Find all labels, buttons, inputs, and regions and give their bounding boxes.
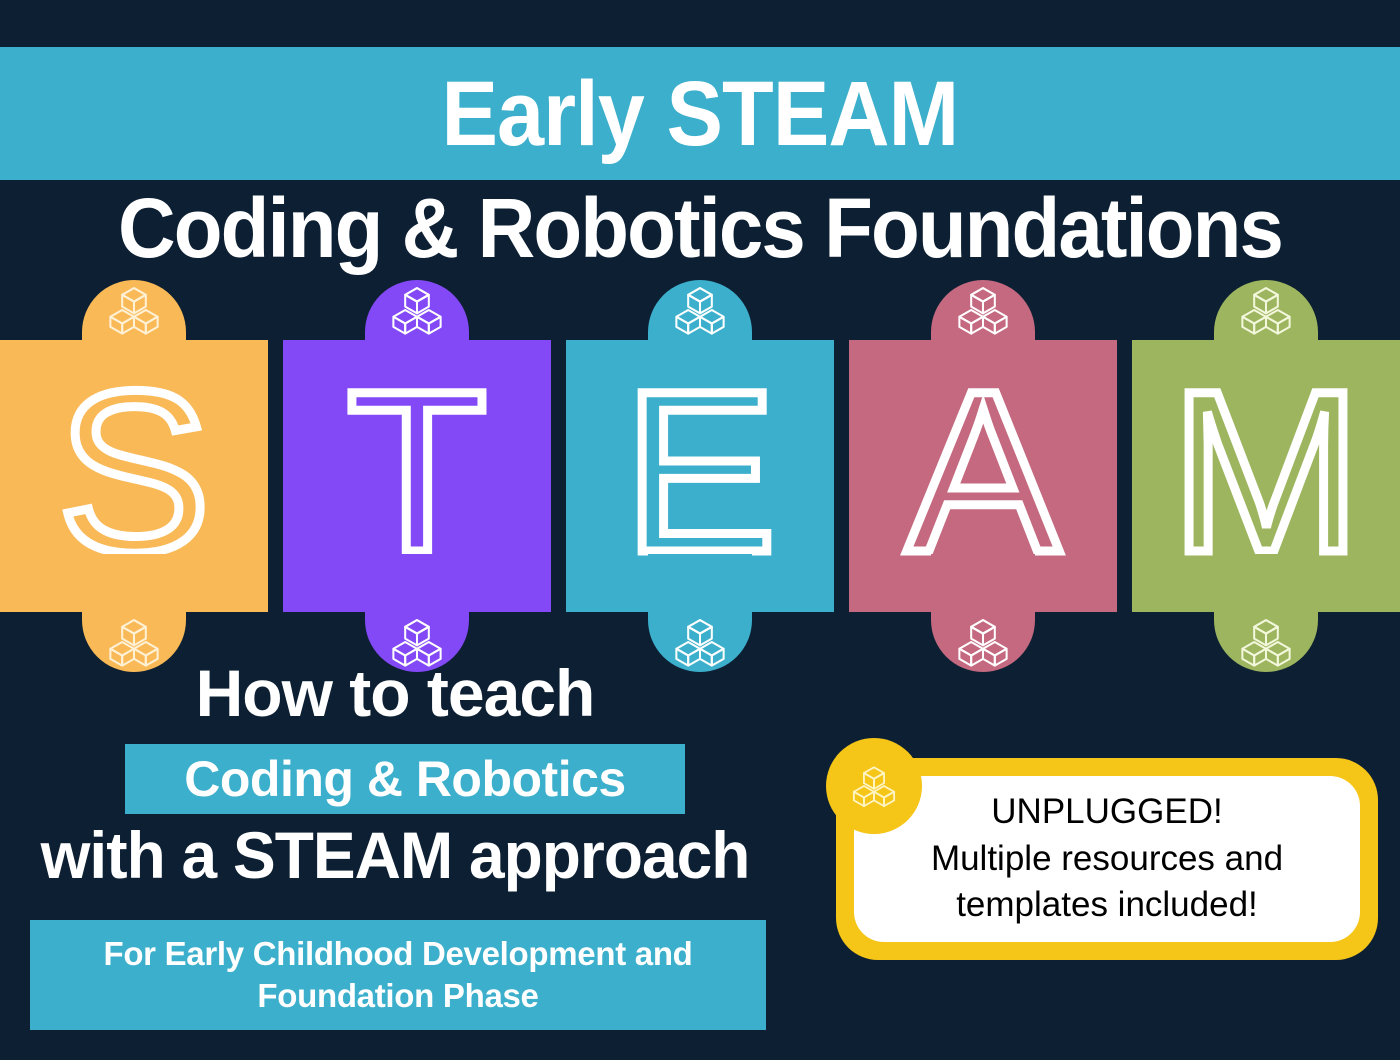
top-banner: Early STEAM xyxy=(0,47,1400,180)
badge-line-3: templates included! xyxy=(956,883,1258,928)
steam-letter: T xyxy=(347,357,488,587)
steam-blocks-row: S T xyxy=(0,280,1400,640)
audience-box: For Early Childhood Development and Foun… xyxy=(30,920,766,1030)
puzzle-tab-bottom xyxy=(648,554,752,672)
page-title: Coding & Robotics Foundations xyxy=(35,186,1365,270)
subtitle-highlight-box: Coding & Robotics xyxy=(125,744,685,814)
subtitle-line-2: with a STEAM approach xyxy=(12,822,778,888)
subtitle-line-1: How to teach xyxy=(0,660,790,726)
subtitle-highlight-text: Coding & Robotics xyxy=(184,754,625,804)
steam-block-arts[interactable]: A xyxy=(849,340,1117,612)
steam-block-science[interactable]: S xyxy=(0,340,268,612)
audience-line-1: For Early Childhood Development and xyxy=(103,935,692,973)
steam-block-engineering[interactable]: E xyxy=(566,340,834,612)
poster-canvas: Early STEAM Coding & Robotics Foundation… xyxy=(0,0,1400,1060)
steam-block-technology[interactable]: T xyxy=(283,340,551,612)
badge-text-panel: UNPLUGGED! Multiple resources and templa… xyxy=(854,776,1360,942)
banner-title: Early STEAM xyxy=(442,68,959,160)
steam-letter: M xyxy=(1170,357,1362,587)
badge-icon-bubble xyxy=(826,738,922,834)
steam-block-mathematics[interactable]: M xyxy=(1132,340,1400,612)
steam-letter: E xyxy=(623,357,776,587)
puzzle-tab-bottom xyxy=(931,554,1035,672)
cubes-icon xyxy=(390,283,444,337)
cubes-icon xyxy=(956,615,1010,669)
cubes-icon xyxy=(851,763,897,809)
badge-line-2: Multiple resources and xyxy=(931,837,1283,882)
puzzle-tab-bottom xyxy=(1214,554,1318,672)
cubes-icon xyxy=(673,283,727,337)
audience-line-2: Foundation Phase xyxy=(257,977,538,1015)
cubes-icon xyxy=(956,283,1010,337)
puzzle-tab-bottom xyxy=(82,554,186,672)
cubes-icon xyxy=(107,283,161,337)
cubes-icon xyxy=(1239,615,1293,669)
unplugged-badge[interactable]: UNPLUGGED! Multiple resources and templa… xyxy=(826,738,1378,960)
steam-letter: S xyxy=(57,357,210,587)
cubes-icon xyxy=(1239,283,1293,337)
puzzle-tab-bottom xyxy=(365,554,469,672)
badge-line-1: UNPLUGGED! xyxy=(991,790,1222,835)
steam-letter: A xyxy=(906,357,1059,587)
